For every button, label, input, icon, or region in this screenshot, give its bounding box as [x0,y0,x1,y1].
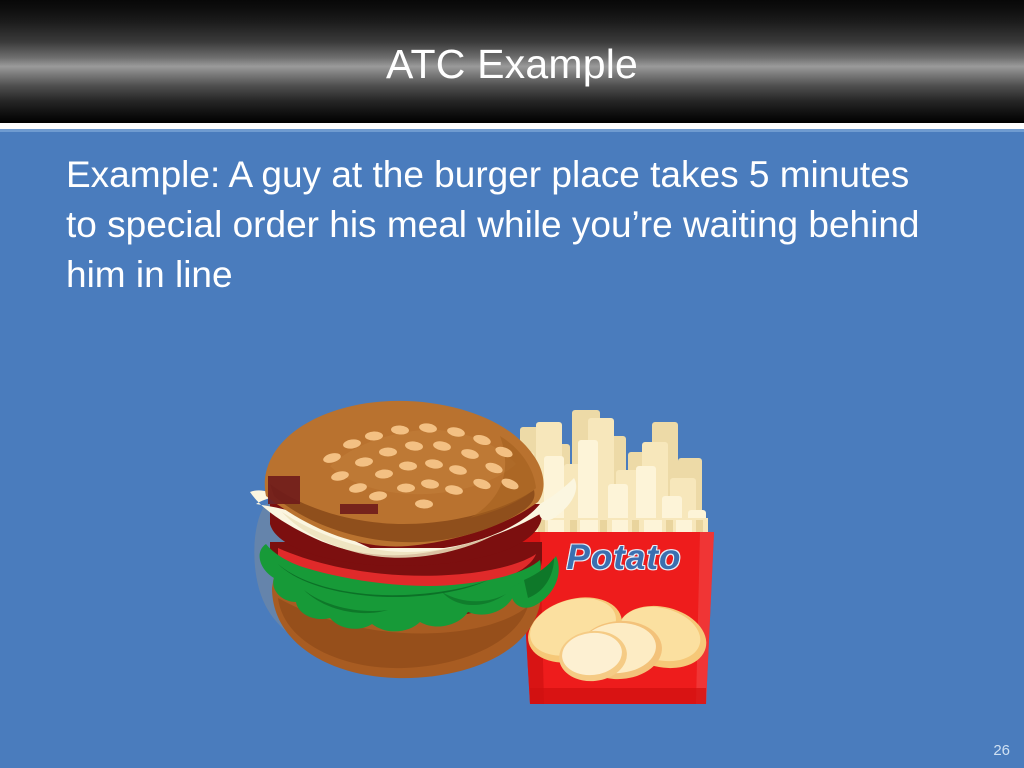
page-title: ATC Example [0,40,1024,88]
title-divider-accent [0,129,1024,132]
page-number: 26 [993,742,1010,760]
hamburger-and-fries-svg [248,392,718,707]
fries-box-icon [520,532,714,704]
hamburger-and-fries-illustration: Potato [248,392,718,707]
title-bar: ATC Example [0,0,1024,123]
slide: ATC Example Example: A guy at the burger… [0,0,1024,768]
slide-body-text: Example: A guy at the burger place takes… [66,150,926,300]
